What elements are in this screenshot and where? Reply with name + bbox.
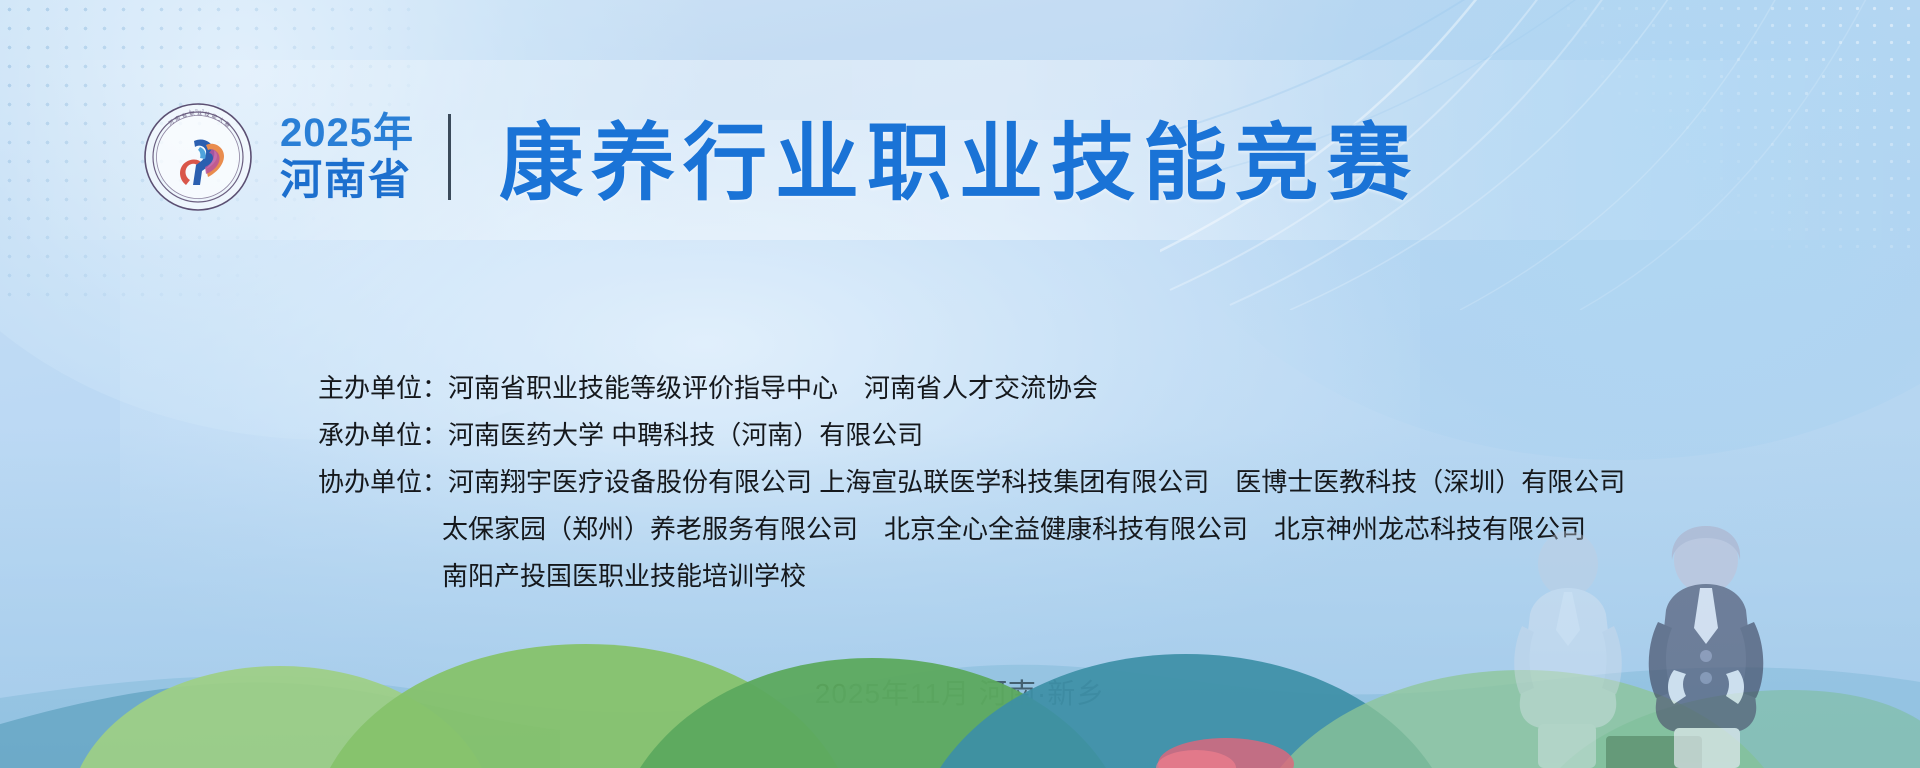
organiser-line: 南阳产投国医职业技能培训学校: [318, 553, 1625, 600]
poster-canvas: 河 南 省 职 业 技 能 大 赛 V O C 2025年: [0, 0, 1920, 768]
year-text: 2025年: [280, 113, 414, 153]
year-province-block: 2025年 河南省: [280, 113, 414, 201]
henan-kangyang-competition-emblem-icon: 河 南 省 职 业 技 能 大 赛 V O C: [142, 101, 254, 213]
organiser-line: 太保家园（郑州）养老服务有限公司 北京全心全益健康科技有限公司 北京神州龙芯科技…: [318, 506, 1625, 553]
province-text: 河南省: [280, 159, 414, 201]
organiser-line: 承办单位：河南医药大学 中聘科技（河南）有限公司: [318, 412, 1625, 459]
poster-header: 河 南 省 职 业 技 能 大 赛 V O C 2025年: [142, 96, 1419, 217]
organisers-block: 主办单位：河南省职业技能等级评价指导中心 河南省人才交流协会 承办单位：河南医药…: [318, 365, 1625, 600]
figure-background: [1514, 531, 1622, 768]
page-title: 康养行业职业技能竞赛: [499, 96, 1419, 217]
title-divider: [448, 114, 451, 200]
caregiver-figures: [1460, 518, 1880, 768]
figure-foreground: [1649, 526, 1764, 768]
organiser-line: 主办单位：河南省职业技能等级评价指导中心 河南省人才交流协会: [318, 365, 1625, 412]
organiser-line: 协办单位：河南翔宇医疗设备股份有限公司 上海宣弘联医学科技集团有限公司 医博士医…: [318, 459, 1625, 506]
halftone-dots-right: [1560, 0, 1920, 250]
